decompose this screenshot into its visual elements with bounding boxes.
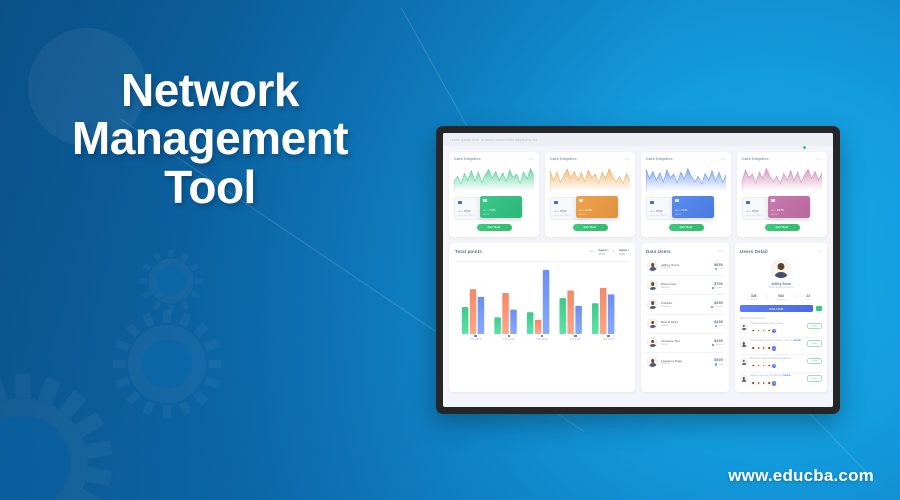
avatar-body	[649, 325, 656, 329]
status-label: Paid	[719, 268, 723, 270]
title-line-3: Tool	[0, 163, 420, 211]
stat-item: 984Following	[767, 294, 794, 301]
detail-stats: 326Followers984Following22Posts	[740, 294, 822, 301]
avatar	[647, 299, 658, 310]
detail-panel-title: Users Detail	[740, 249, 768, 254]
discussion-text: Analysis report of design system	[750, 323, 805, 326]
avatar	[740, 323, 748, 331]
stat-label: Following	[767, 299, 794, 301]
card-chip-icon	[554, 201, 558, 204]
bar-chart	[455, 264, 629, 334]
discussion-status-pill[interactable]: Open	[807, 323, 822, 330]
credit-card-front: •••• 607808/24	[768, 196, 810, 218]
monitor-reflection: Lorem ipsum dolor sit amet, consectetur …	[436, 416, 840, 500]
stat-value: 326	[740, 294, 767, 298]
avatar	[647, 318, 658, 329]
list-item[interactable]: Elena GrayManager$700Pending	[646, 276, 724, 295]
more-options-icon[interactable]: •••	[529, 157, 534, 161]
status-dot	[711, 306, 713, 308]
get-now-button[interactable]: Get Now	[669, 224, 704, 231]
avatar-overflow-count: +3	[771, 345, 777, 351]
avatar-head	[651, 321, 655, 325]
card-sparkline	[550, 165, 630, 191]
discussion-item[interactable]: Analysis report of design system+5Open	[740, 320, 822, 338]
card-number: •••• 4582	[458, 210, 471, 213]
tick-label: Apr 2019	[559, 338, 592, 341]
list-item[interactable]: FranklinDeveloper$650Overdue	[646, 295, 724, 314]
status-badge: Paid	[714, 363, 723, 365]
card-holder: valid thru 08/24	[650, 215, 667, 217]
status-badge: Pending	[712, 287, 723, 289]
avatar-body	[649, 344, 656, 348]
avatar	[647, 261, 658, 272]
user-role: Designer	[661, 363, 714, 365]
status-dot	[712, 287, 714, 289]
follow-row: FOLLOW	[740, 305, 822, 313]
discussion-item[interactable]: New mobile dashboard concept, more info …	[740, 338, 822, 356]
chart-title: Total points	[455, 249, 482, 254]
status-label: Pending	[715, 344, 723, 346]
credit-card-front: •••• 772108/24	[480, 196, 522, 218]
card-header: Card Graphics•••	[742, 157, 822, 161]
user-name: Marcel Dean	[661, 320, 714, 324]
card-holder: valid thru 08/24	[746, 215, 763, 217]
credit-card-mockups: •••• 4582valid thru 08/24•••• 772108/24	[454, 196, 534, 219]
avatar-body	[649, 363, 656, 367]
chart-x-axis: Jan 2019Feb 2019Mar 2019Apr 2019Mai 2019	[455, 335, 629, 342]
dashboard-topbar: Lorem ipsum dolor sit amet, consectetur …	[443, 133, 833, 146]
users-list: Jeffrey SnowDesigner$650PaidElena GrayMa…	[646, 257, 724, 371]
card-title: Card Graphics	[550, 157, 577, 161]
user-amount-block: $650Overdue	[711, 301, 723, 308]
avatar-body	[742, 363, 747, 366]
user-name: Jeannine Tice	[661, 339, 712, 343]
tick-label: Feb 2019	[492, 338, 525, 341]
avatar-overflow-count: +2	[771, 380, 777, 386]
users-detail-panel: Users Detail ••• Jeffrey Snow Senior Pro…	[735, 243, 827, 392]
stat-label: Posts	[795, 299, 822, 301]
card-number: •••• 4582	[554, 210, 567, 213]
user-role: Analyst	[661, 325, 714, 327]
discussion-status-pill[interactable]: Open	[807, 358, 822, 365]
bar-chart-svg	[455, 264, 629, 334]
avatar-body	[649, 287, 656, 291]
avatar	[740, 358, 748, 366]
gear-icon	[108, 305, 226, 423]
chevron-down-icon: ▾	[628, 249, 629, 252]
avatar	[740, 375, 748, 383]
list-item[interactable]: Jeffrey SnowDesigner$650Paid	[646, 257, 724, 276]
avatar-body	[774, 272, 788, 280]
card-number: •••• 4582	[746, 210, 759, 213]
card-holder: 08/24	[771, 214, 777, 216]
stat-item: 326Followers	[740, 294, 767, 301]
card-header: Card Graphics•••	[550, 157, 630, 161]
user-name: Franklin	[661, 301, 711, 305]
title-line-1: Network	[0, 66, 420, 114]
get-now-button[interactable]: Get Now	[573, 224, 608, 231]
user-amount: $700	[712, 282, 723, 286]
card-holder: 08/24	[483, 214, 489, 216]
discussion-text: Weekly team sync and planning Details	[750, 375, 805, 378]
more-options-icon[interactable]: •••	[721, 157, 726, 161]
card-graphics-card[interactable]: Card Graphics••••••• 4582valid thru 08/2…	[737, 152, 827, 237]
tick-label: Mai 2019	[592, 338, 625, 341]
more-options-icon[interactable]: •••	[817, 157, 822, 161]
card-graphics-card[interactable]: Card Graphics••••••• 4582valid thru 08/2…	[449, 152, 539, 237]
dashboard-lower-row: Total points from Agust ▾ 2019 to	[449, 243, 827, 392]
title-line-2: Management	[0, 114, 420, 162]
discussion-item[interactable]: Weekly team sync and planning Details+2O…	[740, 373, 822, 390]
avatar	[771, 259, 791, 279]
card-title: Card Graphics	[646, 157, 673, 161]
avatar-overflow-count: +8	[771, 363, 777, 369]
chart-x-tick: Mar 2019	[525, 335, 558, 342]
card-title: Card Graphics	[742, 157, 769, 161]
dashboard-content: Card Graphics••••••• 4582valid thru 08/2…	[443, 146, 833, 398]
tick-label: Jan 2019	[459, 338, 492, 341]
more-options-icon[interactable]: •••	[719, 249, 724, 253]
discussion-body: Analysis report of design system+5	[750, 323, 805, 334]
card-sparkline	[742, 165, 822, 191]
avatar-stack: +3	[750, 345, 805, 351]
tick-marker	[508, 335, 511, 338]
avatar-body	[742, 380, 747, 383]
avatar-head	[651, 301, 655, 305]
to-month-select[interactable]: Agust ▾ 2020	[619, 249, 629, 256]
status-dot	[715, 325, 717, 327]
card-holder: valid thru 08/24	[458, 215, 475, 217]
message-button[interactable]	[816, 306, 822, 312]
card-holder: 08/24	[579, 214, 585, 216]
list-item[interactable]: Jeannine TiceSupport$250Pending	[646, 334, 724, 353]
card-graphics-row: Card Graphics••••••• 4582valid thru 08/2…	[449, 152, 827, 237]
credit-card-front: •••• 114508/24	[672, 196, 714, 218]
user-amount: $455	[714, 320, 723, 324]
user-amount: $650	[711, 301, 723, 305]
monitor-frame: Lorem ipsum dolor sit amet, consectetur …	[436, 126, 840, 414]
avatar-stack: +2	[750, 380, 805, 386]
avatar	[647, 337, 658, 348]
chart-x-tick: Feb 2019	[492, 335, 525, 342]
list-item[interactable]: Marcel DeanAnalyst$455Paid	[646, 315, 724, 334]
status-badge: Paid	[714, 325, 723, 327]
avatar-head	[651, 282, 655, 286]
get-now-button[interactable]: Get Now	[765, 224, 800, 231]
discussion-link[interactable]: Details	[783, 375, 791, 377]
discussion-text: Brainstorm page for marketing analytics	[750, 358, 805, 361]
list-item[interactable]: Lawrence PageDesigner$500Paid	[646, 353, 724, 371]
users-panel-header: Data Users •••	[646, 249, 724, 254]
avatar-body	[649, 267, 656, 271]
discussion-item[interactable]: Brainstorm page for marketing analytics+…	[740, 355, 822, 373]
avatar	[647, 357, 658, 368]
credit-card-mockups: •••• 4582valid thru 08/24•••• 607808/24	[742, 196, 822, 219]
discussion-body: New mobile dashboard concept, more info …	[750, 340, 805, 351]
user-info: Elena GrayManager	[658, 282, 712, 289]
from-label: from	[589, 249, 594, 253]
user-role: Designer	[661, 267, 714, 269]
discussion-body: Weekly team sync and planning Details+2	[750, 375, 805, 386]
chevron-down-icon: ▾	[607, 249, 608, 252]
poster-canvas: Network Management Tool Lorem ipsum dolo…	[0, 0, 900, 500]
card-sparkline	[646, 165, 726, 191]
stat-label: Followers	[740, 299, 767, 301]
card-graphics-card[interactable]: Card Graphics••••••• 4582valid thru 08/2…	[641, 152, 731, 237]
user-info: FranklinDeveloper	[658, 301, 711, 308]
card-graphics-card[interactable]: Card Graphics••••••• 4582valid thru 08/2…	[545, 152, 635, 237]
user-role: Support	[661, 344, 712, 346]
tick-marker	[607, 335, 610, 338]
discussion-status-pill[interactable]: Open	[807, 375, 822, 382]
card-chip-icon	[579, 199, 583, 202]
chart-panel-header: Total points from Agust ▾ 2019 to	[455, 249, 629, 256]
user-amount-block: $250Pending	[712, 339, 723, 346]
dashboard-screen: Lorem ipsum dolor sit amet, consectetur …	[443, 133, 833, 407]
avatar-body	[742, 345, 747, 348]
user-amount-block: $700Pending	[712, 282, 723, 289]
user-info: Marcel DeanAnalyst	[658, 320, 714, 327]
stat-value: 984	[767, 294, 794, 298]
topbar-text: Lorem ipsum dolor sit amet, consectetur …	[450, 138, 538, 142]
to-year-value: 2020	[619, 253, 629, 257]
avatar	[647, 280, 658, 291]
avatar-stack: +5	[750, 328, 805, 334]
more-options-icon[interactable]: •••	[625, 157, 630, 161]
users-panel-title: Data Users	[646, 249, 671, 254]
detail-user-subtitle: Senior Product Designer	[740, 287, 822, 289]
user-info: Lawrence PageDesigner	[658, 359, 714, 366]
card-sparkline	[454, 165, 534, 191]
card-title: Card Graphics	[454, 157, 481, 161]
date-range-controls: from Agust ▾ 2019 to Agust ▾	[589, 249, 629, 256]
chart-x-tick: Apr 2019	[559, 335, 592, 342]
user-info: Jeffrey SnowDesigner	[658, 263, 714, 270]
card-holder: 08/24	[675, 214, 681, 216]
card-number: •••• 6078	[771, 209, 784, 212]
user-amount-block: $455Paid	[714, 320, 723, 327]
status-label: Paid	[719, 364, 723, 366]
tick-marker	[574, 335, 577, 338]
card-number: •••• 4582	[650, 210, 663, 213]
stat-item: 22Posts	[795, 294, 822, 301]
detail-user-name: Jeffrey Snow	[740, 282, 822, 286]
user-amount-block: $650Paid	[714, 263, 723, 270]
credit-card-front: •••• 339008/24	[576, 196, 618, 218]
avatar-body	[649, 306, 656, 310]
gear-icon	[138, 248, 204, 314]
discussion-link[interactable]: Details	[794, 340, 802, 342]
data-users-panel: Data Users ••• Jeffrey SnowDesigner$650P…	[641, 243, 729, 392]
status-badge: Pending	[712, 344, 723, 346]
card-chip-icon	[746, 201, 750, 204]
status-dot	[715, 363, 717, 365]
get-now-button[interactable]: Get Now	[477, 224, 512, 231]
discussions-list: Analysis report of design system+5OpenNe…	[740, 320, 822, 389]
more-options-icon[interactable]: •••	[817, 249, 822, 253]
to-label: to	[613, 249, 615, 253]
status-label: Overdue	[715, 306, 723, 308]
chart-x-tick: Mai 2019	[592, 335, 625, 342]
card-chip-icon	[483, 199, 487, 202]
detail-panel-header: Users Detail •••	[740, 249, 822, 254]
stat-value: 22	[795, 294, 822, 298]
chart-x-tick: Jan 2019	[459, 335, 492, 342]
credit-card-mockups: •••• 4582valid thru 08/24•••• 114508/24	[646, 196, 726, 219]
card-chip-icon	[675, 199, 679, 202]
from-month-select[interactable]: Agust ▾ 2019	[598, 249, 608, 256]
total-points-panel: Total points from Agust ▾ 2019 to	[449, 243, 635, 392]
status-label: Paid	[719, 325, 723, 327]
user-amount-block: $500Paid	[714, 358, 723, 365]
card-chip-icon	[771, 199, 775, 202]
avatar-head	[651, 263, 655, 267]
from-year-value: 2019	[598, 253, 608, 257]
discussion-text: New mobile dashboard concept, more info …	[750, 340, 805, 343]
status-label: Pending	[715, 287, 723, 289]
avatar	[740, 340, 748, 348]
card-number: •••• 7721	[483, 209, 496, 212]
card-header: Card Graphics•••	[646, 157, 726, 161]
avatar-head	[651, 359, 655, 363]
user-name: Elena Gray	[661, 282, 712, 286]
status-badge: Paid	[714, 268, 723, 270]
avatar-head	[651, 340, 655, 344]
user-amount: $650	[714, 263, 723, 267]
card-header: Card Graphics•••	[454, 157, 534, 161]
follow-button[interactable]: FOLLOW	[740, 305, 813, 313]
card-chip-icon	[650, 201, 654, 204]
user-role: Developer	[661, 306, 711, 308]
discussion-status-pill[interactable]: Open	[807, 340, 822, 347]
credit-card-mockups: •••• 4582valid thru 08/24•••• 339008/24	[550, 196, 630, 219]
page-title: Network Management Tool	[0, 66, 420, 211]
card-number: •••• 1145	[675, 209, 688, 212]
avatar-body	[742, 328, 747, 331]
online-status-dot	[802, 145, 807, 150]
user-role: Manager	[661, 287, 712, 289]
avatar-stack: +8	[750, 363, 805, 369]
card-number: •••• 3390	[579, 209, 592, 212]
tick-marker	[541, 335, 544, 338]
card-chip-icon	[458, 201, 462, 204]
user-amount: $500	[714, 358, 723, 362]
discussion-body: Brainstorm page for marketing analytics+…	[750, 358, 805, 369]
tick-marker	[474, 335, 477, 338]
avatar-overflow-count: +5	[771, 328, 777, 334]
user-amount: $250	[712, 339, 723, 343]
status-dot	[715, 268, 717, 270]
tick-label: Mar 2019	[525, 338, 558, 341]
status-dot	[712, 344, 714, 346]
user-info: Jeannine TiceSupport	[658, 339, 712, 346]
card-holder: valid thru 08/24	[554, 215, 571, 217]
avatar-head	[778, 263, 785, 270]
status-badge: Overdue	[711, 306, 723, 308]
watermark: www.educba.com	[728, 466, 874, 486]
